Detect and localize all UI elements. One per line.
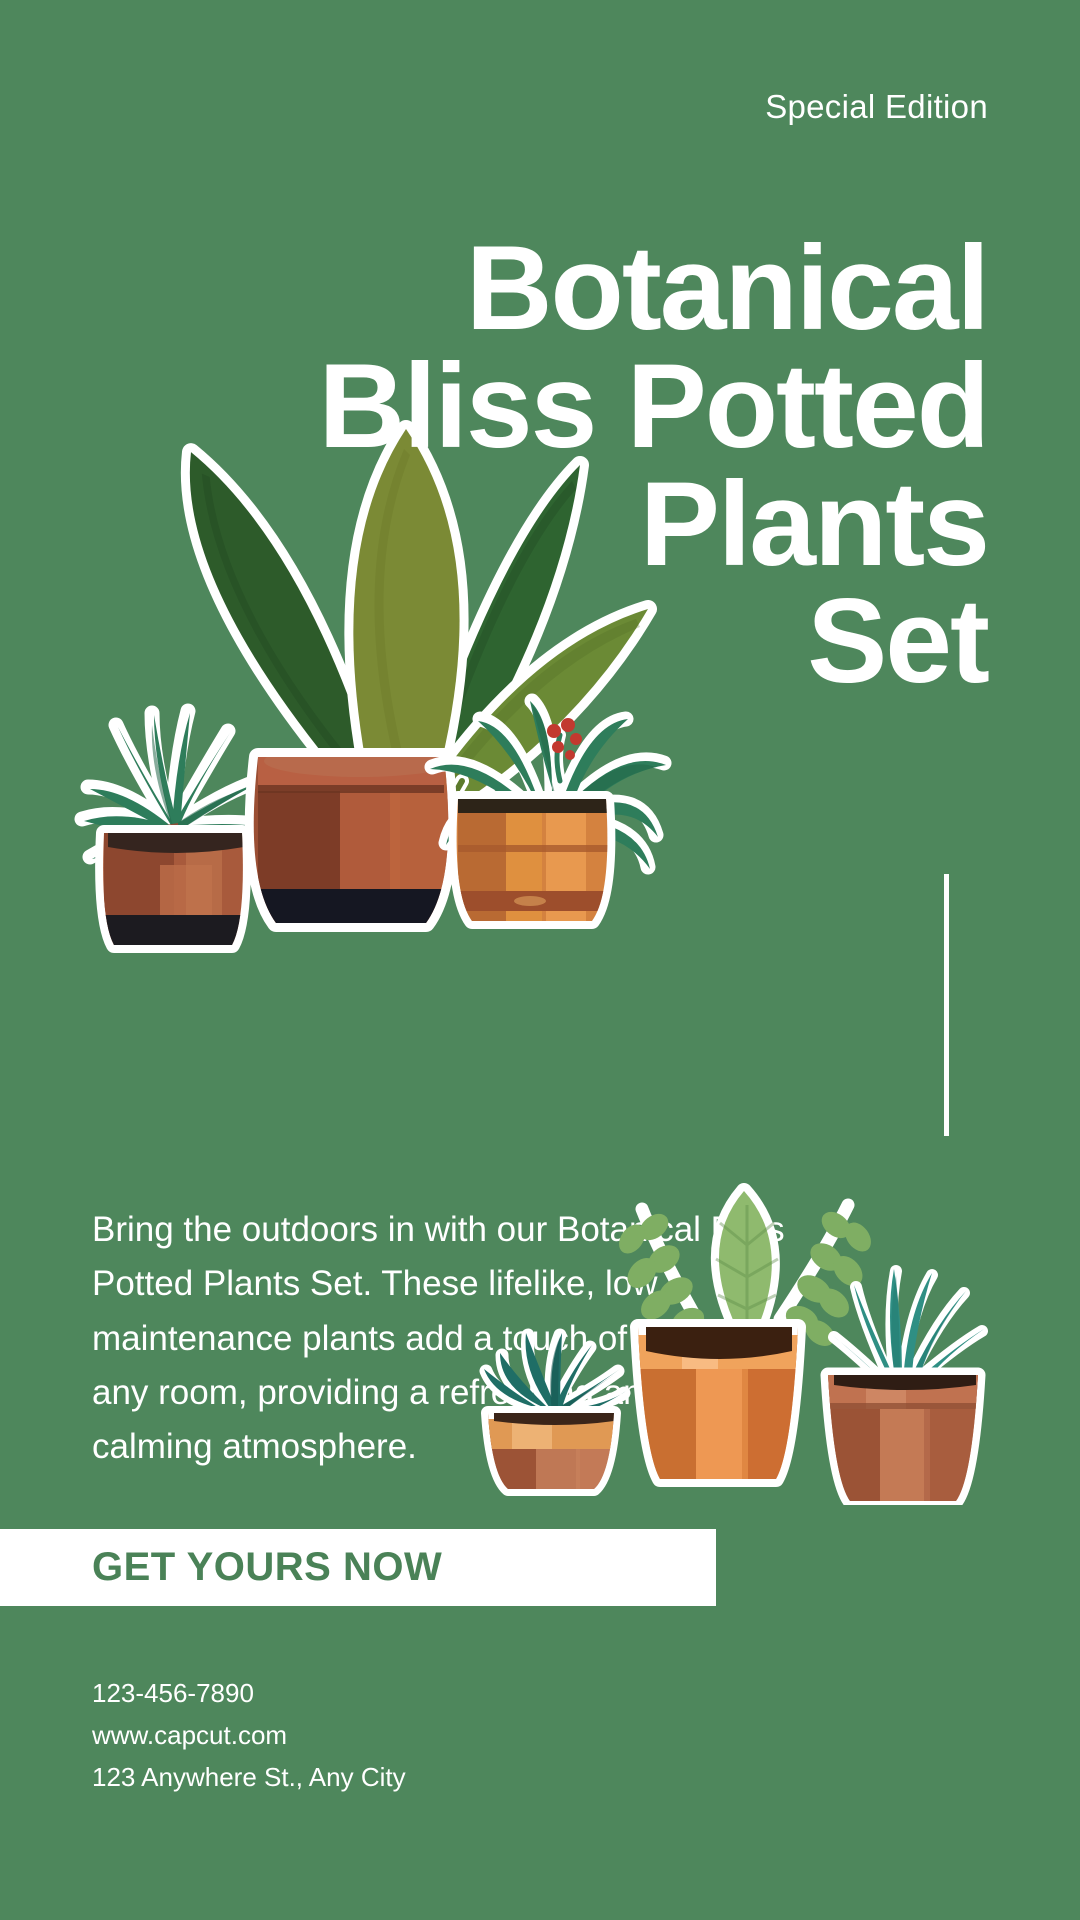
cta-label[interactable]: GET YOURS NOW [92, 1545, 442, 1590]
title-line-3: Plants [60, 466, 988, 584]
title-line-1: Botanical [60, 230, 988, 348]
contact-website[interactable]: www.capcut.com [92, 1714, 406, 1756]
page-title: Botanical Bliss Potted Plants Set [60, 230, 988, 700]
spiky-aloe-plant [828, 1269, 984, 1505]
cta-banner[interactable]: GET YOURS NOW [0, 1529, 716, 1606]
teal-succulent-plant [484, 1333, 626, 1503]
contact-address: 123 Anywhere St., Any City [92, 1756, 406, 1798]
bottom-plants-illustration [468, 1175, 1080, 1505]
poster-canvas: Special Edition Botanical Bliss Potted P… [0, 0, 1080, 1920]
contact-phone[interactable]: 123-456-7890 [92, 1672, 406, 1714]
eyebrow-label: Special Edition [765, 88, 988, 126]
title-line-4: Set [60, 583, 988, 701]
title-line-2: Bliss Potted [60, 348, 988, 466]
contact-block: 123-456-7890 www.capcut.com 123 Anywhere… [92, 1672, 406, 1798]
vertical-accent-rule [944, 874, 949, 1136]
small-palm-plant [82, 711, 264, 955]
